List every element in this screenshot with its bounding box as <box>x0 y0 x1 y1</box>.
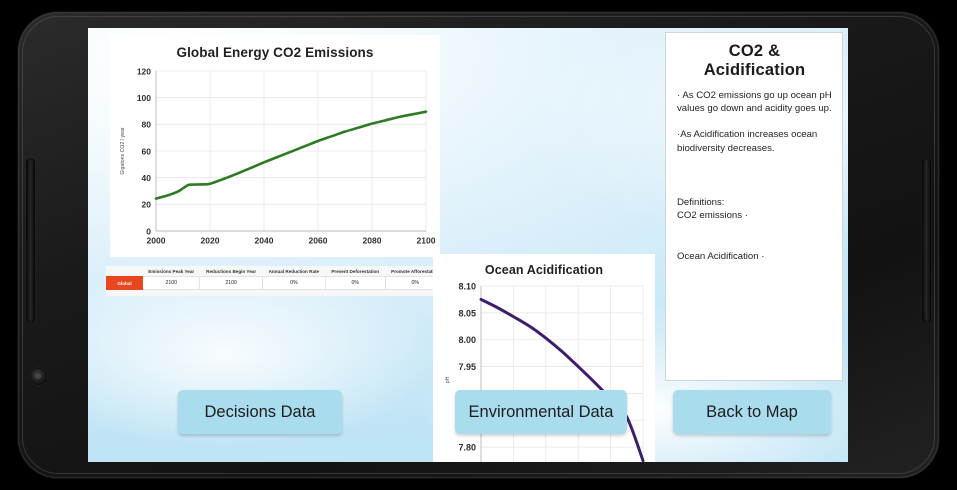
definition-ocean-acidification[interactable]: Ocean Acidification · <box>677 250 832 263</box>
svg-text:2060: 2060 <box>309 236 328 246</box>
speaker-grill-right-icon <box>922 158 931 323</box>
emissions-chart-panel: Global Energy CO2 Emissions 020406080100… <box>110 35 440 257</box>
svg-text:20: 20 <box>142 200 152 210</box>
decisions-table-corner-cell <box>107 266 143 277</box>
cell-prevent-deforestation[interactable]: 0% <box>325 277 385 290</box>
acidification-chart-svg: 7.757.807.857.907.958.008.058.1020002020… <box>433 278 655 462</box>
acidification-chart-title: Ocean Acidification <box>433 254 655 277</box>
emissions-chart-svg: 020406080100120200020202040206020802100G… <box>110 63 440 253</box>
svg-text:2080: 2080 <box>363 236 382 246</box>
table-row: Global 2100 2100 0% 0% 0% <box>107 277 446 290</box>
decisions-data-table-panel: Emissions Peak Year Reductions Begin Yea… <box>106 266 446 296</box>
svg-text:pH: pH <box>445 376 451 383</box>
column-header-emissions-peak-year: Emissions Peak Year <box>143 266 200 277</box>
svg-text:60: 60 <box>142 146 152 156</box>
svg-text:8.05: 8.05 <box>458 308 476 318</box>
decisions-table-body: Global 2100 2100 0% 0% 0% <box>107 277 446 290</box>
cell-reductions-begin-year[interactable]: 2100 <box>200 277 262 290</box>
svg-text:40: 40 <box>142 173 152 183</box>
svg-text:2100: 2100 <box>417 236 436 246</box>
svg-text:2000: 2000 <box>147 236 166 246</box>
decisions-table-head: Emissions Peak Year Reductions Begin Yea… <box>107 266 446 277</box>
info-paragraph-2: ·As Acidification increases ocean biodiv… <box>677 128 832 154</box>
row-label-global: Global <box>107 277 143 290</box>
svg-text:100: 100 <box>137 93 151 103</box>
column-header-prevent-deforestation: Prevent Deforestation <box>325 266 385 277</box>
svg-text:120: 120 <box>137 66 151 76</box>
column-header-annual-reduction-rate: Annual Reduction Rate <box>262 266 325 277</box>
info-spacer <box>677 168 832 196</box>
svg-text:2020: 2020 <box>201 236 220 246</box>
decisions-data-table: Emissions Peak Year Reductions Begin Yea… <box>106 266 446 290</box>
cell-emissions-peak-year[interactable]: 2100 <box>143 277 200 290</box>
front-camera-icon <box>30 368 47 385</box>
svg-text:2040: 2040 <box>255 236 274 246</box>
back-to-map-button[interactable]: Back to Map <box>673 390 831 434</box>
speaker-grill-left-icon <box>26 158 35 323</box>
svg-text:Gigatons CO2 / year: Gigatons CO2 / year <box>120 127 126 175</box>
svg-text:7.95: 7.95 <box>458 362 476 372</box>
definition-co2-emissions[interactable]: CO2 emissions · <box>677 209 832 222</box>
info-panel-title: CO2 & Acidification <box>677 42 832 80</box>
info-panel-content: CO2 & Acidification · As CO2 emissions g… <box>666 33 842 264</box>
info-paragraph-1: · As CO2 emissions go up ocean pH values… <box>677 89 832 115</box>
column-header-reductions-begin-year: Reductions Begin Year <box>200 266 262 277</box>
info-spacer-2 <box>677 222 832 250</box>
decisions-data-button[interactable]: Decisions Data <box>178 390 342 434</box>
definitions-heading: Definitions: <box>677 196 832 209</box>
decisions-table-header-row: Emissions Peak Year Reductions Begin Yea… <box>107 266 446 277</box>
app-screen: Global Energy CO2 Emissions 020406080100… <box>88 28 848 462</box>
emissions-chart-plot: 020406080100120200020202040206020802100G… <box>110 63 440 253</box>
emissions-chart-title: Global Energy CO2 Emissions <box>110 35 440 60</box>
cell-annual-reduction-rate[interactable]: 0% <box>262 277 325 290</box>
tablet-device-frame: Global Energy CO2 Emissions 020406080100… <box>0 0 957 490</box>
info-panel: CO2 & Acidification · As CO2 emissions g… <box>665 32 843 381</box>
svg-text:7.80: 7.80 <box>458 443 476 453</box>
svg-text:8.10: 8.10 <box>458 281 476 291</box>
acidification-chart-plot: 7.757.807.857.907.958.008.058.1020002020… <box>433 278 655 462</box>
environmental-data-button[interactable]: Environmental Data <box>455 390 627 434</box>
svg-text:8.00: 8.00 <box>458 335 476 345</box>
svg-text:80: 80 <box>142 120 152 130</box>
